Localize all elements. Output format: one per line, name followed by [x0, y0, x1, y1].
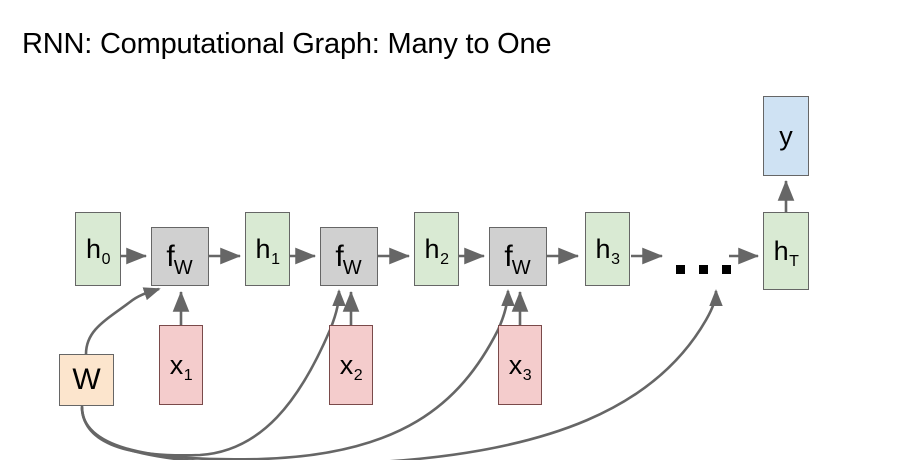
node-f-w-2-label: fW	[335, 242, 362, 272]
edge-w-to-fw1	[86, 289, 159, 354]
node-h-T[interactable]: hT	[763, 212, 809, 290]
node-x-2[interactable]: x2	[329, 325, 373, 405]
node-h-3[interactable]: h3	[585, 212, 630, 286]
node-h-2[interactable]: h2	[414, 212, 459, 286]
node-f-w-1[interactable]: fW	[151, 227, 209, 286]
node-x-3[interactable]: x3	[498, 325, 542, 405]
node-h-1[interactable]: h1	[245, 212, 290, 286]
node-h-3-label: h3	[596, 236, 620, 263]
edge-w-to-fw2	[82, 291, 339, 455]
node-weights-W-label: W	[72, 365, 100, 395]
node-h-2-label: h2	[425, 236, 449, 263]
slide-canvas: RNN: Computational Graph: Many to One	[0, 0, 900, 460]
node-h-0[interactable]: h0	[75, 212, 121, 286]
node-f-w-3-label: fW	[504, 242, 531, 272]
node-output-y-label: y	[779, 123, 793, 150]
node-h-0-label: h0	[86, 236, 110, 263]
node-h-1-label: h1	[256, 236, 280, 263]
node-x-1-label: x1	[170, 352, 192, 379]
edge-w-to-fw3	[82, 291, 508, 459]
node-f-w-3[interactable]: fW	[489, 227, 547, 286]
ellipsis-dot-2	[699, 265, 708, 274]
node-output-y[interactable]: y	[763, 96, 809, 176]
ellipsis-dot-1	[676, 265, 685, 274]
node-f-w-2[interactable]: fW	[320, 227, 378, 286]
node-x-2-label: x2	[340, 352, 362, 379]
node-x-1[interactable]: x1	[159, 325, 203, 405]
ellipsis-dot-3	[722, 265, 731, 274]
node-f-w-1-label: fW	[166, 242, 193, 272]
node-h-T-label: hT	[774, 238, 799, 265]
node-weights-W[interactable]: W	[59, 354, 114, 406]
node-x-3-label: x3	[509, 352, 531, 379]
